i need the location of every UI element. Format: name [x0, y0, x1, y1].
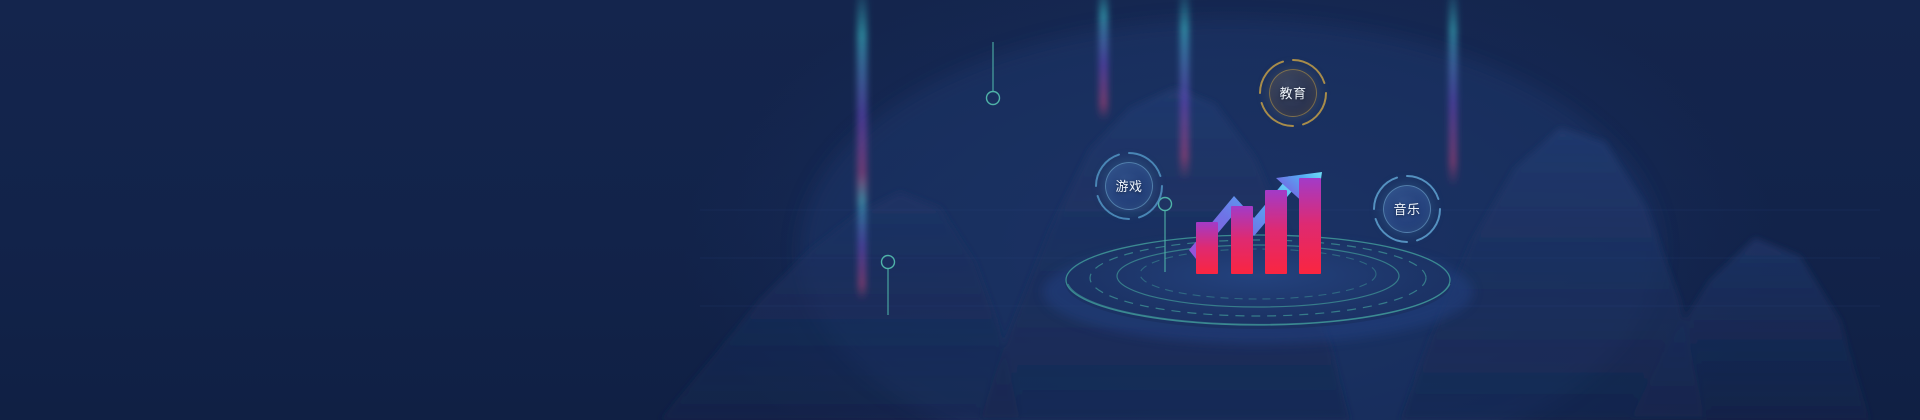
bar-2	[1231, 206, 1253, 274]
badge-label-game: 游戏	[1105, 162, 1153, 210]
illustration-scene: 游戏 教育 音乐	[0, 0, 1920, 420]
bar-1	[1196, 222, 1218, 274]
growth-chart	[0, 0, 1920, 420]
bar-4	[1299, 178, 1321, 274]
badge-label-music: 音乐	[1383, 185, 1431, 233]
bar-3	[1265, 190, 1287, 274]
hero-banner: 游戏 教育 音乐	[0, 0, 1920, 420]
category-badge-music[interactable]: 音乐	[1369, 171, 1445, 247]
category-badge-education[interactable]: 教育	[1255, 55, 1331, 131]
badge-label-education: 教育	[1269, 69, 1317, 117]
category-badge-game[interactable]: 游戏	[1091, 148, 1167, 224]
